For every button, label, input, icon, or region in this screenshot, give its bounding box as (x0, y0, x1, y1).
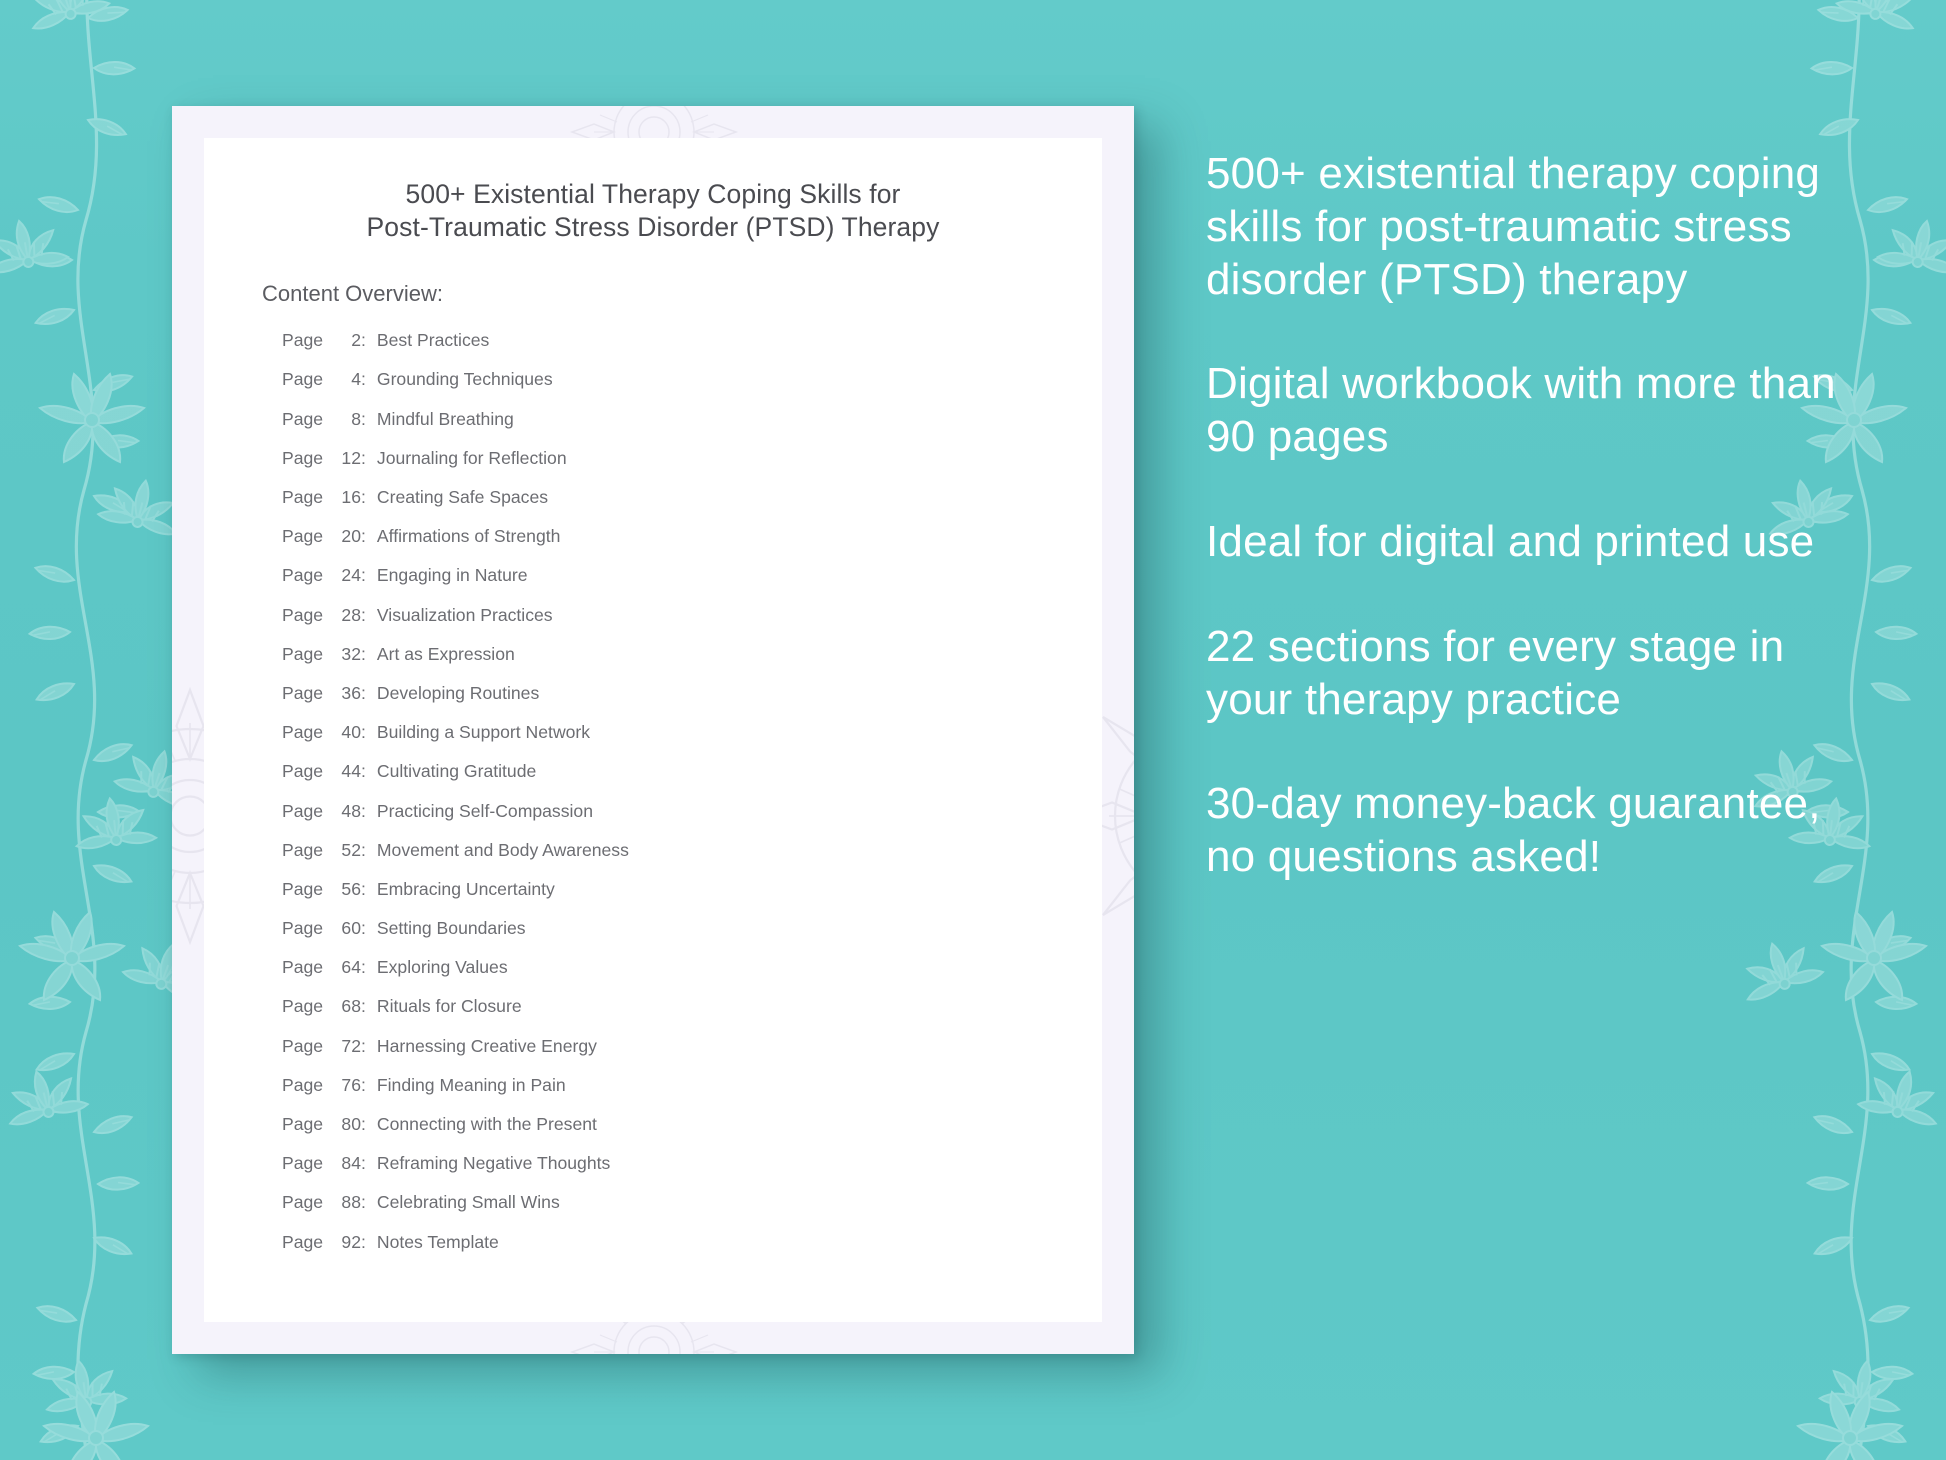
toc-entry[interactable]: Page88:Celebrating Small Wins (282, 1192, 1102, 1231)
toc-entry[interactable]: Page92:Notes Template (282, 1232, 1102, 1271)
document-title: 500+ Existential Therapy Coping Skills f… (204, 138, 1102, 244)
toc-page-word: Page (282, 644, 330, 665)
toc-page-word: Page (282, 487, 330, 508)
toc-colon: : (361, 1036, 377, 1057)
toc-section-title: Best Practices (377, 330, 489, 351)
toc-colon: : (361, 1075, 377, 1096)
toc-page-word: Page (282, 1036, 330, 1057)
toc-page-word: Page (282, 722, 330, 743)
toc-entry[interactable]: Page52:Movement and Body Awareness (282, 840, 1102, 879)
document-title-line-1: 500+ Existential Therapy Coping Skills f… (278, 178, 1028, 211)
table-of-contents: Page2:Best PracticesPage4:Grounding Tech… (204, 307, 1102, 1271)
toc-section-title: Journaling for Reflection (377, 448, 567, 469)
toc-page-number: 2 (330, 330, 361, 351)
toc-section-title: Affirmations of Strength (377, 526, 561, 547)
toc-page-number: 20 (330, 526, 361, 547)
toc-page-word: Page (282, 1075, 330, 1096)
toc-colon: : (361, 957, 377, 978)
toc-colon: : (361, 565, 377, 586)
toc-entry[interactable]: Page2:Best Practices (282, 330, 1102, 369)
toc-entry[interactable]: Page4:Grounding Techniques (282, 369, 1102, 408)
toc-colon: : (361, 1114, 377, 1135)
toc-page-word: Page (282, 840, 330, 861)
toc-page-number: 28 (330, 605, 361, 626)
toc-colon: : (361, 761, 377, 782)
document-title-line-2: Post-Traumatic Stress Disorder (PTSD) Th… (278, 211, 1028, 244)
toc-section-title: Mindful Breathing (377, 409, 514, 430)
toc-colon: : (361, 330, 377, 351)
toc-entry[interactable]: Page40:Building a Support Network (282, 722, 1102, 761)
toc-entry[interactable]: Page44:Cultivating Gratitude (282, 761, 1102, 800)
toc-entry[interactable]: Page84:Reframing Negative Thoughts (282, 1153, 1102, 1192)
toc-entry[interactable]: Page8:Mindful Breathing (282, 409, 1102, 448)
promo-line: 500+ existential therapy coping skills f… (1206, 148, 1846, 306)
toc-page-word: Page (282, 957, 330, 978)
toc-colon: : (361, 840, 377, 861)
toc-page-number: 12 (330, 448, 361, 469)
toc-entry[interactable]: Page48:Practicing Self-Compassion (282, 801, 1102, 840)
toc-page-word: Page (282, 918, 330, 939)
toc-page-word: Page (282, 605, 330, 626)
toc-page-number: 92 (330, 1232, 361, 1253)
toc-section-title: Harnessing Creative Energy (377, 1036, 597, 1057)
toc-entry[interactable]: Page32:Art as Expression (282, 644, 1102, 683)
toc-section-title: Finding Meaning in Pain (377, 1075, 566, 1096)
toc-entry[interactable]: Page56:Embracing Uncertainty (282, 879, 1102, 918)
toc-entry[interactable]: Page12:Journaling for Reflection (282, 448, 1102, 487)
toc-entry[interactable]: Page24:Engaging in Nature (282, 565, 1102, 604)
toc-page-word: Page (282, 1232, 330, 1253)
toc-page-number: 64 (330, 957, 361, 978)
toc-colon: : (361, 879, 377, 900)
toc-page-number: 48 (330, 801, 361, 822)
document-page: 500+ Existential Therapy Coping Skills f… (204, 138, 1102, 1322)
toc-entry[interactable]: Page68:Rituals for Closure (282, 996, 1102, 1035)
toc-page-number: 32 (330, 644, 361, 665)
promo-line: Digital workbook with more than 90 pages (1206, 358, 1846, 464)
toc-section-title: Creating Safe Spaces (377, 487, 548, 508)
toc-colon: : (361, 683, 377, 704)
toc-section-title: Building a Support Network (377, 722, 590, 743)
toc-page-number: 44 (330, 761, 361, 782)
toc-colon: : (361, 526, 377, 547)
toc-section-title: Celebrating Small Wins (377, 1192, 560, 1213)
toc-entry[interactable]: Page16:Creating Safe Spaces (282, 487, 1102, 526)
toc-page-number: 4 (330, 369, 361, 390)
toc-page-number: 16 (330, 487, 361, 508)
toc-section-title: Connecting with the Present (377, 1114, 597, 1135)
toc-section-title: Rituals for Closure (377, 996, 522, 1017)
toc-page-number: 76 (330, 1075, 361, 1096)
promo-copy-block: 500+ existential therapy coping skills f… (1206, 148, 1846, 884)
toc-colon: : (361, 1153, 377, 1174)
toc-page-number: 24 (330, 565, 361, 586)
toc-section-title: Visualization Practices (377, 605, 553, 626)
toc-page-word: Page (282, 330, 330, 351)
toc-colon: : (361, 1232, 377, 1253)
toc-section-title: Exploring Values (377, 957, 508, 978)
toc-colon: : (361, 409, 377, 430)
toc-colon: : (361, 448, 377, 469)
toc-page-number: 88 (330, 1192, 361, 1213)
toc-section-title: Cultivating Gratitude (377, 761, 536, 782)
toc-colon: : (361, 996, 377, 1017)
toc-section-title: Grounding Techniques (377, 369, 553, 390)
toc-page-word: Page (282, 996, 330, 1017)
toc-page-word: Page (282, 801, 330, 822)
toc-entry[interactable]: Page80:Connecting with the Present (282, 1114, 1102, 1153)
toc-colon: : (361, 605, 377, 626)
toc-page-word: Page (282, 1153, 330, 1174)
toc-page-word: Page (282, 526, 330, 547)
toc-colon: : (361, 487, 377, 508)
toc-colon: : (361, 644, 377, 665)
toc-page-number: 56 (330, 879, 361, 900)
toc-page-word: Page (282, 1114, 330, 1135)
toc-entry[interactable]: Page20:Affirmations of Strength (282, 526, 1102, 565)
toc-section-title: Engaging in Nature (377, 565, 528, 586)
toc-page-number: 36 (330, 683, 361, 704)
toc-section-title: Setting Boundaries (377, 918, 526, 939)
toc-entry[interactable]: Page64:Exploring Values (282, 957, 1102, 996)
slide-canvas: 500+ Existential Therapy Coping Skills f… (0, 0, 1946, 1460)
toc-page-number: 72 (330, 1036, 361, 1057)
toc-page-word: Page (282, 761, 330, 782)
content-overview-label: Content Overview: (204, 244, 1102, 307)
promo-line: 22 sections for every stage in your ther… (1206, 621, 1846, 727)
toc-page-number: 8 (330, 409, 361, 430)
toc-page-word: Page (282, 409, 330, 430)
toc-colon: : (361, 918, 377, 939)
toc-page-word: Page (282, 683, 330, 704)
toc-entry[interactable]: Page76:Finding Meaning in Pain (282, 1075, 1102, 1114)
toc-colon: : (361, 369, 377, 390)
document-preview-card[interactable]: 500+ Existential Therapy Coping Skills f… (172, 106, 1134, 1354)
toc-section-title: Embracing Uncertainty (377, 879, 555, 900)
toc-section-title: Practicing Self-Compassion (377, 801, 593, 822)
toc-section-title: Notes Template (377, 1232, 499, 1253)
toc-entry[interactable]: Page72:Harnessing Creative Energy (282, 1036, 1102, 1075)
toc-section-title: Movement and Body Awareness (377, 840, 629, 861)
toc-page-word: Page (282, 879, 330, 900)
toc-section-title: Reframing Negative Thoughts (377, 1153, 610, 1174)
toc-colon: : (361, 1192, 377, 1213)
toc-entry[interactable]: Page60:Setting Boundaries (282, 918, 1102, 957)
toc-page-number: 84 (330, 1153, 361, 1174)
toc-page-word: Page (282, 565, 330, 586)
toc-page-word: Page (282, 448, 330, 469)
toc-colon: : (361, 722, 377, 743)
toc-entry[interactable]: Page28:Visualization Practices (282, 605, 1102, 644)
toc-page-word: Page (282, 1192, 330, 1213)
toc-colon: : (361, 801, 377, 822)
toc-entry[interactable]: Page36:Developing Routines (282, 683, 1102, 722)
toc-section-title: Art as Expression (377, 644, 515, 665)
promo-line: 30-day money-back guarantee, no question… (1206, 778, 1846, 884)
toc-page-number: 52 (330, 840, 361, 861)
toc-page-number: 68 (330, 996, 361, 1017)
toc-page-number: 80 (330, 1114, 361, 1135)
toc-section-title: Developing Routines (377, 683, 539, 704)
promo-line: Ideal for digital and printed use (1206, 516, 1846, 569)
toc-page-number: 40 (330, 722, 361, 743)
toc-page-number: 60 (330, 918, 361, 939)
toc-page-word: Page (282, 369, 330, 390)
